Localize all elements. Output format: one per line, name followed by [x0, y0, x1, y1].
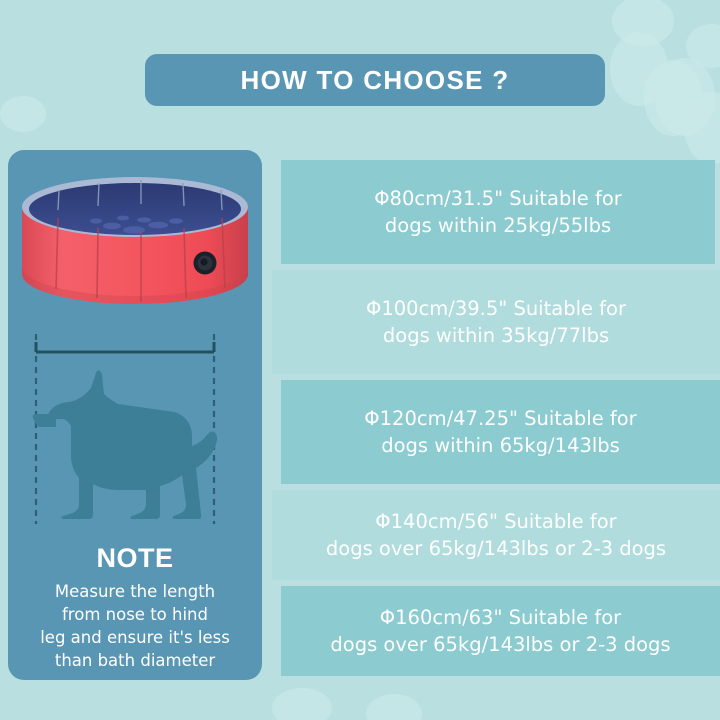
size-row-line2: dogs over 65kg/143lbs or 2-3 dogs: [330, 631, 670, 658]
size-row-line2: dogs within 25kg/55lbs: [374, 212, 622, 239]
size-row[interactable]: Φ100cm/39.5" Suitable for dogs within 35…: [272, 270, 720, 374]
size-row-line1: Φ140cm/56" Suitable for: [326, 508, 666, 535]
size-row-line2: dogs over 65kg/143lbs or 2-3 dogs: [326, 535, 666, 562]
size-row-text: Φ100cm/39.5" Suitable for dogs within 35…: [360, 295, 632, 349]
size-row-text: Φ80cm/31.5" Suitable for dogs within 25k…: [368, 185, 628, 239]
note-block: NOTE Measure the length from nose to hin…: [8, 542, 262, 672]
left-info-panel: NOTE Measure the length from nose to hin…: [8, 150, 262, 680]
size-row-text: Φ160cm/63" Suitable for dogs over 65kg/1…: [324, 604, 676, 658]
size-row[interactable]: Φ120cm/47.25" Suitable for dogs within 6…: [281, 380, 720, 484]
drain-plug-icon: [194, 252, 217, 275]
note-heading: NOTE: [8, 542, 262, 574]
pool-product-image: [8, 162, 262, 320]
size-row-line1: Φ120cm/47.25" Suitable for: [364, 405, 636, 432]
measurement-bracket: [36, 342, 214, 352]
size-row-text: Φ120cm/47.25" Suitable for dogs within 6…: [358, 405, 642, 459]
size-row[interactable]: Φ160cm/63" Suitable for dogs over 65kg/1…: [281, 586, 720, 676]
note-line: than bath diameter: [14, 649, 256, 672]
size-row-line1: Φ80cm/31.5" Suitable for: [374, 185, 622, 212]
size-row-line1: Φ100cm/39.5" Suitable for: [366, 295, 626, 322]
size-row-line2: dogs within 35kg/77lbs: [366, 322, 626, 349]
note-body: Measure the length from nose to hind leg…: [8, 580, 262, 672]
size-row[interactable]: Φ140cm/56" Suitable for dogs over 65kg/1…: [272, 490, 720, 580]
size-row-line1: Φ160cm/63" Suitable for: [330, 604, 670, 631]
dog-measurement-diagram: [8, 328, 262, 536]
dog-silhouette-icon: [33, 371, 217, 519]
note-line: from nose to hind: [14, 603, 256, 626]
infographic-root: HOW TO CHOOSE ? Φ80cm/31.5" Suitable for…: [0, 0, 720, 720]
note-line: Measure the length: [14, 580, 256, 603]
size-row-text: Φ140cm/56" Suitable for dogs over 65kg/1…: [320, 508, 672, 562]
size-row[interactable]: Φ80cm/31.5" Suitable for dogs within 25k…: [281, 160, 715, 264]
note-line: leg and ensure it's less: [14, 626, 256, 649]
size-row-line2: dogs within 65kg/143lbs: [364, 432, 636, 459]
